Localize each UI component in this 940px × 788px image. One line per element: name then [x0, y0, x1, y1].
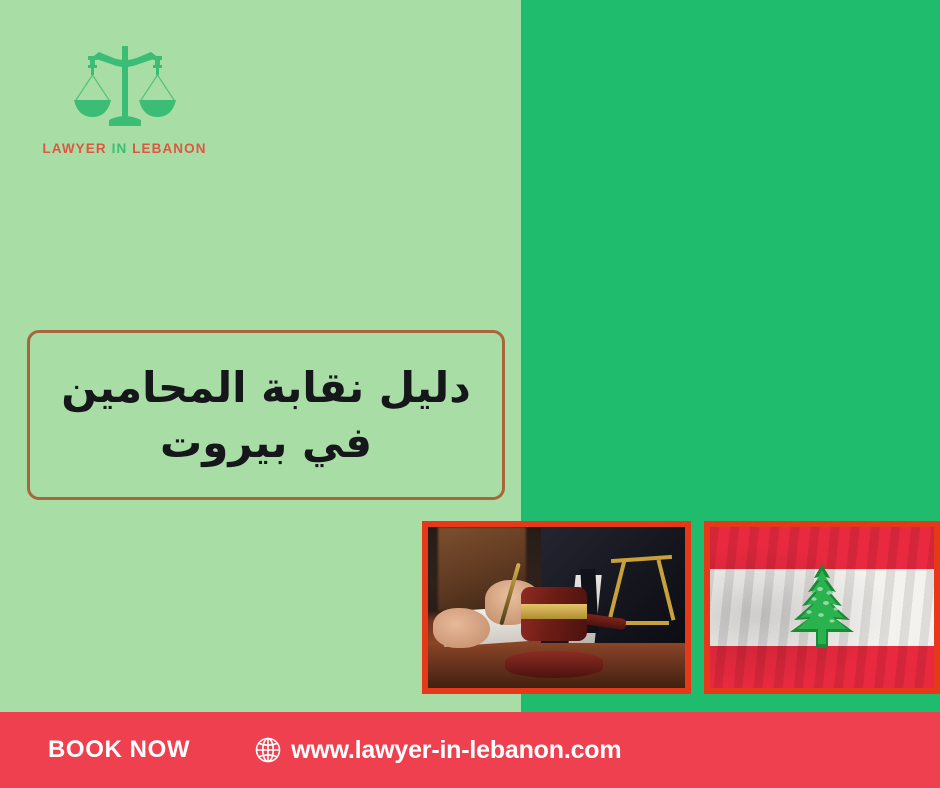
gavel-photo-scene	[428, 527, 685, 688]
balance-scales-icon	[69, 38, 181, 134]
brand-word-lebanon: LEBANON	[132, 141, 206, 156]
gavel-lawyer-photo	[422, 521, 691, 694]
photo-scales-of-justice	[608, 553, 675, 627]
footer-bar: BOOK NOW www.lawyer-in-lebanon.com	[0, 712, 940, 788]
lebanon-flag-photo	[704, 521, 940, 694]
headline-text: دليل نقابة المحامين في بيروت	[47, 360, 485, 471]
photo-hand-left	[433, 608, 490, 648]
headline-box: دليل نقابة المحامين في بيروت	[27, 330, 505, 500]
brand-word-in: IN	[112, 141, 128, 156]
brand-word-lawyer: LAWYER	[42, 141, 106, 156]
website-url-text: www.lawyer-in-lebanon.com	[291, 736, 621, 765]
poster-canvas: LAWYER IN LEBANON دليل نقابة المحامين في…	[0, 0, 940, 788]
cedar-tree-icon	[780, 562, 864, 654]
globe-icon	[254, 736, 282, 764]
photo-gavel-band	[521, 604, 588, 618]
book-now-label[interactable]: BOOK NOW	[48, 736, 190, 764]
website-link[interactable]: www.lawyer-in-lebanon.com	[254, 736, 621, 765]
photo-gavel-block	[505, 651, 603, 678]
headline-line-2: في بيروت	[61, 415, 471, 470]
brand-logo-text: LAWYER IN LEBANON	[42, 141, 207, 156]
headline-line-1: دليل نقابة المحامين	[61, 360, 471, 415]
brand-logo[interactable]: LAWYER IN LEBANON	[42, 38, 207, 156]
